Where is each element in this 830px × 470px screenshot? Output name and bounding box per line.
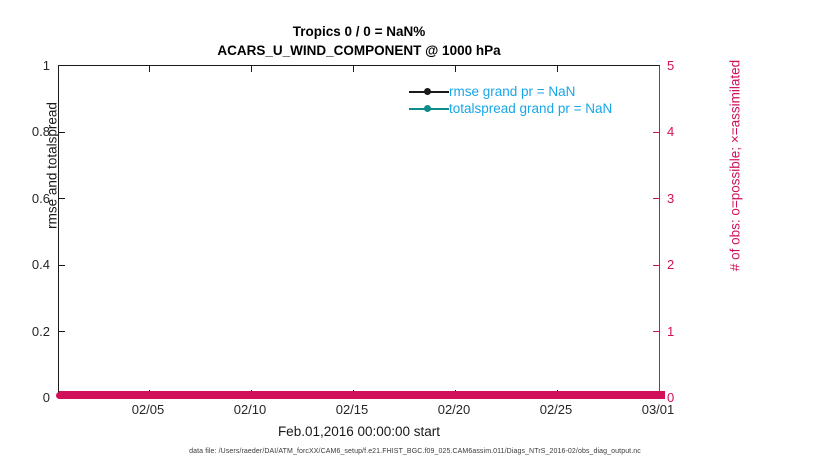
xtick-label-3: 02/20 — [419, 403, 489, 417]
obs-assimilated-marker — [659, 391, 665, 399]
figure-canvas: Tropics 0 / 0 = NaN% ACARS_U_WIND_COMPON… — [0, 0, 830, 470]
xtick-label-4: 02/25 — [521, 403, 591, 417]
xtick-mark-top-1 — [251, 66, 252, 72]
ytick-right-2: 3 — [667, 192, 697, 205]
legend: rmse grand pr = NaN totalspread grand pr… — [409, 83, 659, 117]
ytick-mark-right-1 — [653, 132, 659, 133]
xtick-label-5: 03/01 — [623, 403, 693, 417]
legend-item-rmse[interactable]: rmse grand pr = NaN — [409, 83, 659, 100]
xtick-mark-top-3 — [455, 66, 456, 72]
legend-item-totalspread[interactable]: totalspread grand pr = NaN — [409, 100, 659, 117]
y-axis-label-right: # of obs: o=possible; ×=assimilated — [728, 1, 743, 331]
xtick-label-2: 02/15 — [317, 403, 387, 417]
chart-title: Tropics 0 / 0 = NaN% — [58, 22, 660, 41]
ytick-left-5: 0 — [4, 391, 50, 404]
ytick-left-2: 0.6 — [4, 192, 50, 205]
xtick-mark-top-2 — [353, 66, 354, 72]
legend-label-rmse: rmse grand pr = NaN — [449, 84, 575, 99]
data-file-note: data file: /Users/raeder/DAI/ATM_forcXX/… — [0, 448, 830, 455]
ytick-right-4: 1 — [667, 325, 697, 338]
ytick-mark-left-3 — [59, 265, 65, 266]
xtick-mark-top-4 — [557, 66, 558, 72]
xtick-label-0: 02/05 — [113, 403, 183, 417]
ytick-right-1: 4 — [667, 125, 697, 138]
ytick-mark-right-4 — [653, 331, 659, 332]
x-axis-label: Feb.01,2016 00:00:00 start — [58, 424, 660, 439]
ytick-left-1: 0.8 — [4, 125, 50, 138]
chart-subtitle: ACARS_U_WIND_COMPONENT @ 1000 hPa — [58, 41, 660, 60]
ytick-mark-left-4 — [59, 331, 65, 332]
obs-count-series — [59, 391, 659, 400]
ytick-left-0: 1 — [4, 59, 50, 72]
ytick-left-3: 0.4 — [4, 258, 50, 271]
ytick-left-4: 0.2 — [4, 325, 50, 338]
legend-marker-totalspread-icon — [409, 102, 449, 116]
ytick-mark-right-2 — [653, 198, 659, 199]
ytick-mark-left-2 — [59, 198, 65, 199]
xtick-mark-top-0 — [149, 66, 150, 72]
ytick-right-0: 5 — [667, 59, 697, 72]
legend-label-totalspread: totalspread grand pr = NaN — [449, 101, 612, 116]
chart-title-block: Tropics 0 / 0 = NaN% ACARS_U_WIND_COMPON… — [58, 22, 660, 60]
ytick-mark-right-3 — [653, 265, 659, 266]
ytick-right-3: 2 — [667, 258, 697, 271]
xtick-label-1: 02/10 — [215, 403, 285, 417]
ytick-mark-left-1 — [59, 132, 65, 133]
legend-marker-rmse-icon — [409, 85, 449, 99]
plot-area: rmse grand pr = NaN totalspread grand pr… — [58, 65, 660, 397]
